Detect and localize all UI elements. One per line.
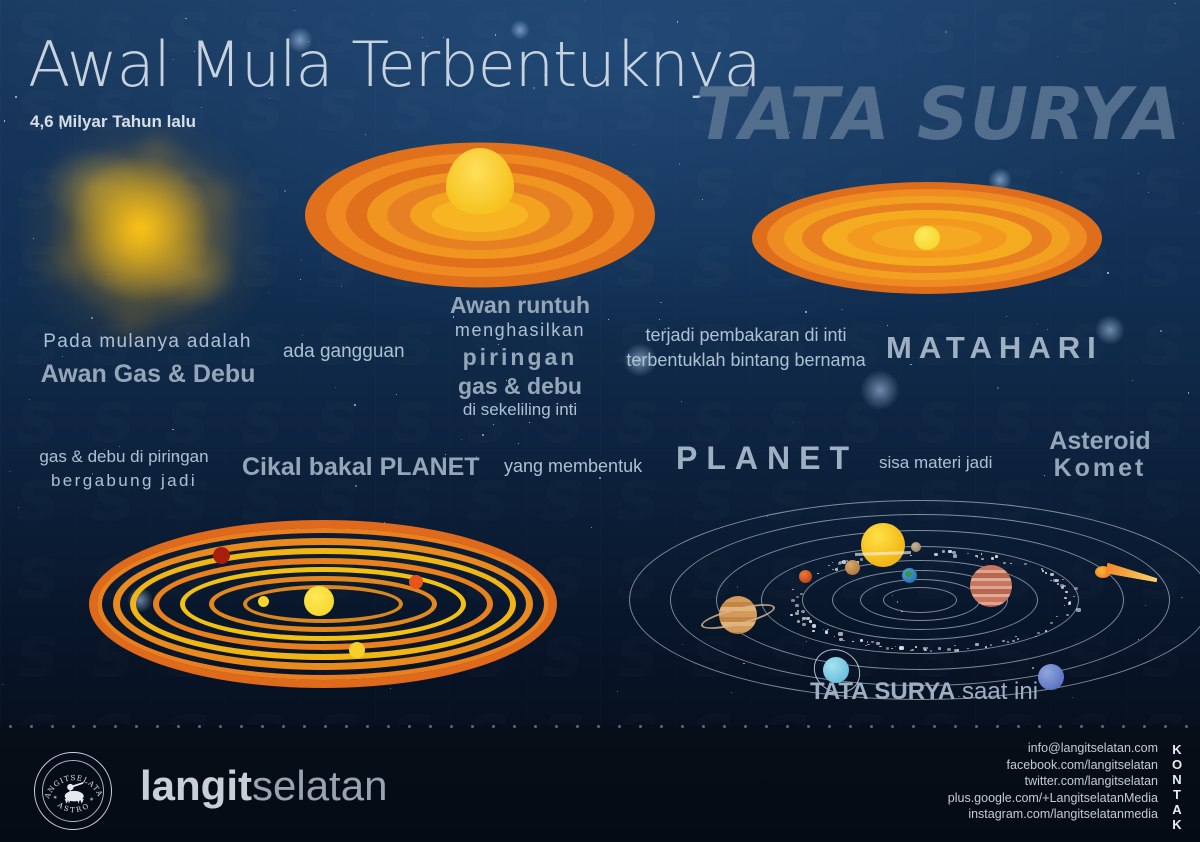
asteroid xyxy=(795,612,799,615)
asteroid xyxy=(1015,636,1017,638)
stage-collapse-line1: Awan runtuh xyxy=(420,292,620,319)
star-glow xyxy=(860,370,900,410)
asteroid xyxy=(938,647,941,649)
asteroid xyxy=(823,629,825,630)
star xyxy=(335,387,336,388)
asteroid xyxy=(1017,638,1020,640)
asteroid xyxy=(954,645,955,646)
asteroid xyxy=(915,646,918,648)
protoplanet-core xyxy=(304,586,334,616)
planet-mercury xyxy=(911,542,921,552)
asteroid xyxy=(865,645,867,646)
asteroid xyxy=(1056,616,1058,617)
asteroid xyxy=(828,565,830,566)
footer-divider xyxy=(0,725,1200,728)
stage-disturbance-label: ada gangguan xyxy=(283,341,405,363)
asteroid xyxy=(797,620,800,623)
asteroid xyxy=(934,553,938,556)
contact-label: KONTAK xyxy=(1167,742,1187,832)
asteroid xyxy=(867,641,869,642)
star xyxy=(18,507,19,508)
star xyxy=(1183,123,1184,124)
stage-collapse-line5: di sekeliling inti xyxy=(420,400,620,420)
asteroid xyxy=(879,646,881,648)
asteroid xyxy=(981,553,983,554)
star xyxy=(294,10,295,11)
stage-leftover-name1: Asteroid xyxy=(1015,427,1185,456)
asteroid xyxy=(1012,640,1015,642)
asteroid xyxy=(838,562,842,565)
asteroid xyxy=(886,647,889,650)
protoplanet-orange xyxy=(409,575,423,589)
asteroid xyxy=(1050,622,1052,624)
asteroid xyxy=(1003,562,1006,564)
star xyxy=(1107,272,1109,274)
comet xyxy=(1095,562,1157,584)
asteroid xyxy=(1045,630,1047,632)
stage-ignition-line2: terbentuklah bintang bernama xyxy=(608,350,884,371)
star xyxy=(15,96,17,98)
contact-item[interactable]: plus.google.com/+LangitselatanMedia xyxy=(948,790,1158,807)
star xyxy=(887,325,888,326)
star xyxy=(482,434,484,436)
stage-accretion-line2: bergabung jadi xyxy=(30,471,218,491)
langitselatan-seal-logo: LANGITSELATAN * ASTRO * xyxy=(34,752,112,830)
contact-item[interactable]: instagram.com/langitselatanmedia xyxy=(948,806,1158,823)
asteroid xyxy=(832,569,834,571)
asteroid-belt xyxy=(640,500,1200,700)
star xyxy=(702,199,703,200)
asteroid xyxy=(954,649,958,652)
star xyxy=(1037,324,1038,325)
asteroid xyxy=(1010,563,1012,565)
asteroid xyxy=(1037,632,1040,634)
planet-jupiter xyxy=(970,565,1012,607)
protoplanet-red xyxy=(213,547,230,564)
stage-forming-name: PLANET xyxy=(676,440,858,477)
asteroid xyxy=(795,604,799,607)
asteroid xyxy=(1073,596,1075,597)
asteroid xyxy=(1007,641,1009,642)
asteroid xyxy=(985,646,988,648)
planet-sun xyxy=(861,523,905,567)
asteroid xyxy=(1064,605,1066,606)
asteroid xyxy=(930,650,932,652)
star xyxy=(396,394,397,395)
protoplanet-yellow xyxy=(349,642,365,658)
planet-neptune xyxy=(1038,664,1064,690)
kontak-letter: K xyxy=(1167,817,1187,832)
asteroid xyxy=(867,644,869,646)
asteroid xyxy=(1076,608,1080,611)
kontak-letter: O xyxy=(1167,757,1187,772)
asteroid xyxy=(1064,597,1067,599)
asteroid xyxy=(871,641,874,643)
asteroid xyxy=(812,630,815,632)
stage-collapse-line2: menghasilkan xyxy=(420,320,620,341)
asteroid xyxy=(1068,602,1071,605)
star xyxy=(355,485,357,487)
protoplanet-ring-system-illustration xyxy=(88,518,558,690)
asteroid xyxy=(796,596,799,598)
infographic-canvas: ssssssssssssssssssssssssssssssssssssssss… xyxy=(0,0,1200,842)
asteroid xyxy=(1035,636,1036,637)
star xyxy=(1174,3,1175,4)
asteroid xyxy=(995,555,998,557)
protoplanetary-disk-illustration xyxy=(305,142,655,287)
kontak-letter: K xyxy=(1167,742,1187,757)
asteroid xyxy=(1041,568,1044,570)
stage-cloud-line2: Awan Gas & Debu xyxy=(24,360,272,389)
stage-protoplanet-label: Cikal bakal PLANET xyxy=(242,453,480,482)
asteroid xyxy=(1074,587,1078,590)
star xyxy=(529,422,530,423)
star xyxy=(677,21,679,23)
asteroid xyxy=(911,649,914,651)
asteroid xyxy=(843,640,844,641)
asteroid xyxy=(1002,640,1004,642)
asteroid xyxy=(800,593,803,595)
asteroid xyxy=(1050,573,1054,576)
asteroid xyxy=(895,646,896,647)
asteroid xyxy=(791,599,795,602)
solar-system-illustration xyxy=(640,500,1200,700)
stage-collapse-line4: gas & debu xyxy=(420,373,620,400)
asteroid xyxy=(792,589,794,590)
asteroid xyxy=(1050,580,1051,581)
stage-ignition-name: MATAHARI xyxy=(886,330,1103,366)
stage-cloud-line1: Pada mulanya adalah xyxy=(30,331,265,353)
star xyxy=(679,163,680,164)
asteroid xyxy=(975,643,979,646)
asteroid xyxy=(899,646,903,650)
star xyxy=(1132,380,1133,381)
caption-light: saat ini xyxy=(962,678,1038,705)
star xyxy=(997,387,999,389)
stage-forming-line1: yang membentuk xyxy=(504,456,642,477)
asteroid xyxy=(802,623,806,626)
brand-name-bold: langit xyxy=(140,762,252,809)
page-title-accent: TATA SURYA xyxy=(695,72,1182,156)
star xyxy=(284,190,286,192)
stage-leftover-name2: Komet xyxy=(1015,454,1185,483)
stage-ignition-line1: terjadi pembakaran di inti xyxy=(620,325,872,346)
asteroid xyxy=(952,551,956,554)
asteroid xyxy=(990,644,992,646)
asteroid xyxy=(802,620,804,621)
asteroid xyxy=(839,638,842,641)
asteroid xyxy=(809,620,813,623)
protoplanet-inner xyxy=(258,596,269,607)
kontak-letter: A xyxy=(1167,802,1187,817)
earth-land xyxy=(905,571,912,577)
asteroid xyxy=(1045,572,1047,573)
page-title: Awal Mula Terbentuknya xyxy=(28,28,761,101)
asteroid xyxy=(1024,563,1026,565)
kontak-letter: T xyxy=(1167,787,1187,802)
asteroid xyxy=(967,648,968,649)
solar-system-caption: TATA SURYA saat ini xyxy=(810,678,1038,706)
star xyxy=(681,401,682,402)
asteroid xyxy=(942,550,946,553)
star xyxy=(591,527,592,528)
brand-name-light: selatan xyxy=(252,762,387,809)
contact-list: info@langitselatan.comfacebook.com/langi… xyxy=(948,740,1158,823)
asteroid xyxy=(837,567,838,568)
asteroid xyxy=(891,648,893,649)
asteroid xyxy=(1062,579,1064,580)
asteroid xyxy=(852,641,854,643)
asteroid xyxy=(790,614,793,616)
asteroid xyxy=(860,639,864,642)
asteroid xyxy=(981,558,984,560)
stage-collapse-line3: piringan xyxy=(420,344,620,371)
asteroid xyxy=(860,558,863,561)
asteroid xyxy=(1065,591,1067,593)
asteroid xyxy=(1057,583,1059,585)
asteroid xyxy=(967,553,968,554)
star xyxy=(1057,56,1058,57)
asteroid xyxy=(834,636,835,637)
asteroid xyxy=(838,632,842,635)
asteroid xyxy=(827,629,829,630)
asteroid xyxy=(835,568,839,571)
brand-wordmark: langitselatan xyxy=(140,762,387,810)
asteroid xyxy=(991,557,995,560)
asteroid xyxy=(924,649,927,651)
asteroid xyxy=(876,642,880,645)
asteroid xyxy=(975,555,978,557)
stage-accretion-line1: gas & debu di piringan xyxy=(30,447,218,467)
gas-dust-cloud-illustration xyxy=(20,118,270,348)
asteroid xyxy=(806,617,809,620)
star xyxy=(461,439,462,440)
kontak-letter: N xyxy=(1167,772,1187,787)
asteroid xyxy=(817,573,819,575)
planet-venus xyxy=(845,560,860,575)
asteroid xyxy=(1066,614,1069,616)
star xyxy=(185,18,187,20)
page-subtitle: 4,6 Milyar Tahun lalu xyxy=(30,112,196,132)
asteroid xyxy=(812,624,816,627)
asteroid xyxy=(910,555,911,556)
asteroid xyxy=(947,648,951,651)
planet-mars xyxy=(799,570,812,583)
asteroid xyxy=(948,550,952,553)
asteroid xyxy=(926,647,928,649)
star-formation-disk-illustration xyxy=(752,182,1102,294)
stage-leftover-line1: sisa materi jadi xyxy=(879,453,992,473)
asteroid xyxy=(953,554,957,557)
caption-bold: TATA SURYA xyxy=(810,678,955,705)
contact-item[interactable]: info@langitselatan.com xyxy=(948,740,1158,757)
asteroid xyxy=(1042,570,1044,572)
contact-item[interactable]: twitter.com/langitselatan xyxy=(948,773,1158,790)
contact-item[interactable]: facebook.com/langitselatan xyxy=(948,757,1158,774)
asteroid xyxy=(1055,579,1059,582)
